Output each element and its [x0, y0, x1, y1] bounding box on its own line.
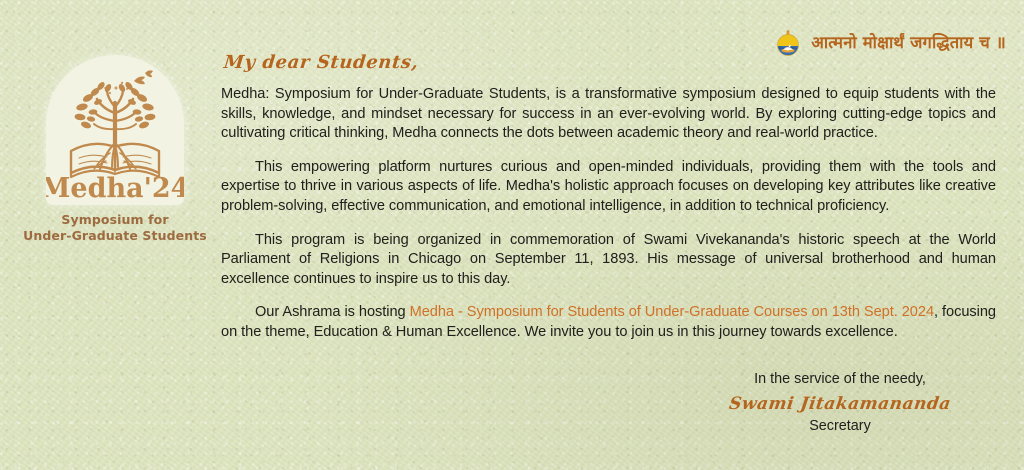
- ramakrishna-mission-emblem-icon: [772, 27, 804, 59]
- closing-block: In the service of the needy, Swami Jitak…: [680, 370, 1000, 435]
- letter-paragraph: Our Ashrama is hosting Medha - Symposium…: [221, 303, 996, 342]
- sanskrit-motto: आत्मनो मोक्षार्थं जगद्धिताय च ॥: [811, 35, 1006, 52]
- medha-logo-badge: Medha'24: [46, 55, 184, 205]
- letter-body: My dear Students, Medha: Symposium for U…: [221, 52, 996, 357]
- paragraph-text: This empowering platform nurtures curiou…: [221, 159, 996, 214]
- logo-subtitle: Symposium for Under-Graduate Students: [22, 212, 208, 244]
- letter-paragraph: This program is being organized in comme…: [221, 231, 996, 290]
- signature-handwritten: Swami Jitakamananda: [679, 394, 1002, 414]
- letter-paragraph: This empowering platform nurtures curiou…: [221, 158, 996, 217]
- letter-paragraph: Medha: Symposium for Under-Graduate Stud…: [221, 85, 996, 144]
- logo-subtitle-line2: Under-Graduate Students: [22, 228, 208, 244]
- letter-paragraphs: Medha: Symposium for Under-Graduate Stud…: [221, 85, 996, 343]
- valediction: In the service of the needy,: [680, 370, 1000, 388]
- highlighted-event-text: Medha - Symposium for Students of Under-…: [410, 304, 934, 320]
- logo-subtitle-line1: Symposium for: [22, 212, 208, 228]
- medha-logo-block: Medha'24 Symposium for Under-Graduate St…: [22, 55, 208, 244]
- paragraph-text: This program is being organized in comme…: [221, 232, 996, 287]
- header-motto: आत्मनो मोक्षार्थं जगद्धिताय च ॥: [772, 27, 1006, 59]
- paragraph-text: Our Ashrama is hosting: [255, 304, 410, 320]
- designation: Secretary: [680, 417, 1000, 435]
- tree-on-open-book-with-birds-icon: Medha'24: [46, 55, 184, 205]
- letter-page: आत्मनो मोक्षार्थं जगद्धिताय च ॥: [0, 0, 1024, 470]
- paragraph-text: Medha: Symposium for Under-Graduate Stud…: [221, 86, 996, 141]
- medha-wordmark: Medha'24: [46, 173, 184, 204]
